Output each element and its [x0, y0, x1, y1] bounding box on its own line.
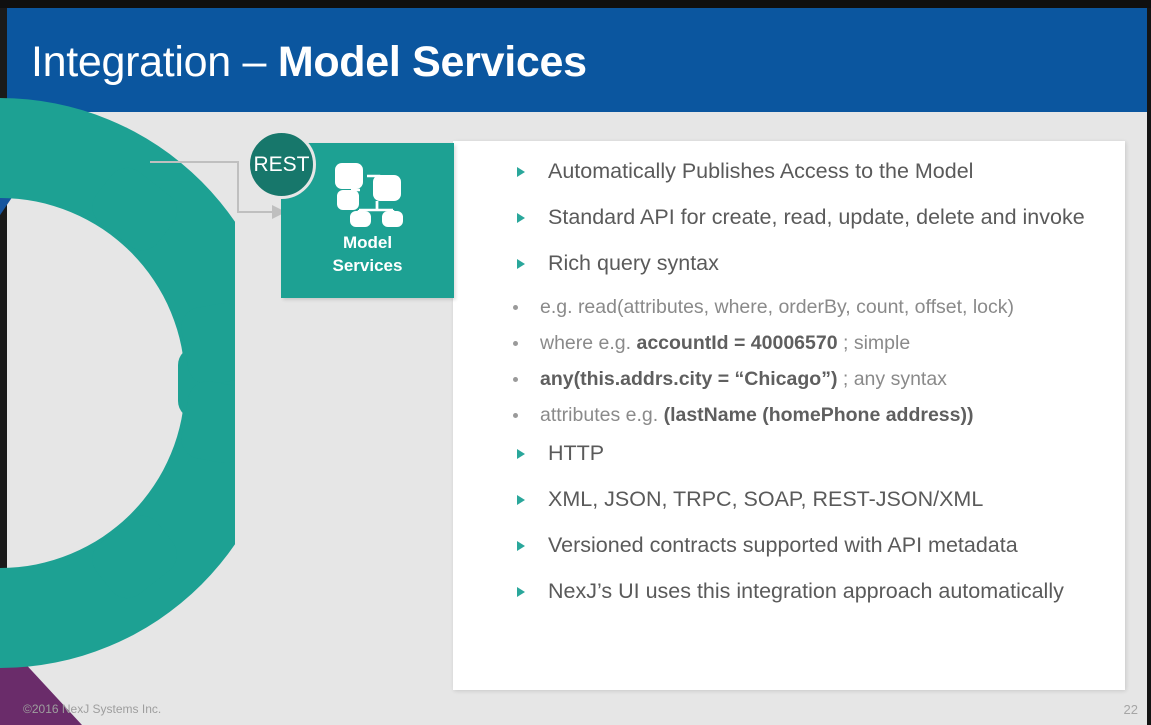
- sub-bullet-code: accountId = 40006570: [636, 332, 837, 354]
- page-title: Integration – Model Services: [31, 37, 587, 87]
- sub-bullet-code: any(this.addrs.city = “Chicago”): [540, 368, 837, 390]
- sub-bullet-item: attributes e.g. (lastName (homePhone add…: [482, 402, 1113, 429]
- sub-bullet-text: where e.g.: [540, 332, 636, 354]
- slide-header-bar: Integration – Model Services: [7, 8, 1147, 112]
- bullet-text: Rich query syntax: [548, 251, 719, 275]
- bullet-item: Automatically Publishes Access to the Mo…: [482, 156, 1113, 186]
- dot-bullet-icon: [513, 305, 518, 310]
- top-border-strip: [0, 0, 1151, 8]
- triangle-bullet-icon: [517, 259, 525, 269]
- triangle-bullet-icon: [517, 449, 525, 459]
- page-title-regular: Integration –: [31, 38, 278, 86]
- content-panel: Automatically Publishes Access to the Mo…: [453, 141, 1125, 690]
- sub-bullet-code: (lastName (homePhone address)): [664, 404, 974, 426]
- sub-bullet-item: any(this.addrs.city = “Chicago”) ; any s…: [482, 366, 1113, 393]
- bullet-text: Standard API for create, read, update, d…: [548, 205, 1085, 229]
- sub-bullet-text: e.g. read(attributes, where, orderBy, co…: [540, 296, 1014, 318]
- rest-badge[interactable]: REST: [247, 130, 316, 199]
- bullet-item: Versioned contracts supported with API m…: [482, 530, 1113, 560]
- model-services-label-line1: Model: [281, 231, 454, 254]
- bullet-text: XML, JSON, TRPC, SOAP, REST-JSON/XML: [548, 487, 983, 511]
- triangle-bullet-icon: [517, 587, 525, 597]
- sub-bullet-note: ; any syntax: [837, 368, 946, 390]
- footer-copyright: ©2016 NexJ Systems Inc.: [23, 702, 161, 716]
- dot-bullet-icon: [513, 377, 518, 382]
- triangle-bullet-icon: [517, 541, 525, 551]
- rest-badge-label: REST: [253, 153, 309, 177]
- model-services-label: Model Services: [281, 231, 454, 277]
- triangle-bullet-icon: [517, 213, 525, 223]
- slide-number: 22: [1124, 702, 1138, 717]
- bullet-text: Versioned contracts supported with API m…: [548, 533, 1018, 557]
- right-border-strip: [1147, 0, 1151, 725]
- sub-bullet-item: where e.g. accountId = 40006570 ; simple: [482, 330, 1113, 357]
- bullet-item: Standard API for create, read, update, d…: [482, 202, 1113, 232]
- sub-bullet-text: attributes e.g.: [540, 404, 664, 426]
- sub-bullet-list: e.g. read(attributes, where, orderBy, co…: [482, 294, 1113, 429]
- bullet-item: NexJ’s UI uses this integration approach…: [482, 576, 1113, 606]
- bullet-list: Automatically Publishes Access to the Mo…: [482, 156, 1113, 622]
- bullet-item: XML, JSON, TRPC, SOAP, REST-JSON/XML: [482, 484, 1113, 514]
- bullet-item: Rich query syntax: [482, 248, 1113, 278]
- bullet-text: NexJ’s UI uses this integration approach…: [548, 579, 1064, 603]
- dot-bullet-icon: [513, 341, 518, 346]
- dot-bullet-icon: [513, 413, 518, 418]
- sub-bullet-item: e.g. read(attributes, where, orderBy, co…: [482, 294, 1113, 321]
- bullet-text: Automatically Publishes Access to the Mo…: [548, 159, 973, 183]
- sub-bullet-note: ; simple: [838, 332, 911, 354]
- bullet-item: HTTP: [482, 438, 1113, 468]
- presentation-slide: Integration – Model Services Integration: [0, 0, 1151, 725]
- bullet-text: HTTP: [548, 441, 604, 465]
- triangle-bullet-icon: [517, 167, 525, 177]
- model-services-label-line2: Services: [281, 254, 454, 277]
- page-title-bold: Model Services: [278, 38, 587, 86]
- triangle-bullet-icon: [517, 495, 525, 505]
- network-nodes-icon: [331, 157, 405, 227]
